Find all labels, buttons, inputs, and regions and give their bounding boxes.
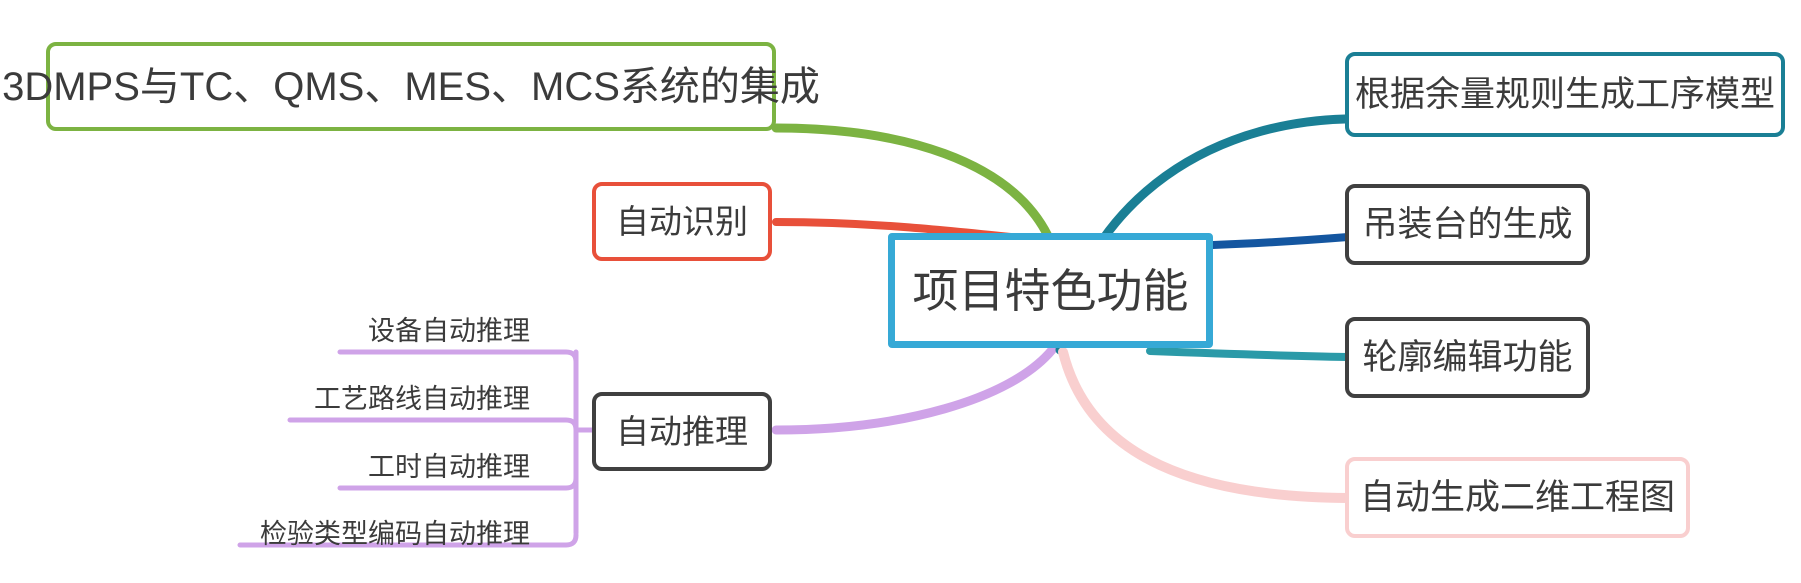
node-auto-2d-drawing[interactable]: 自动生成二维工程图 (1345, 457, 1690, 538)
node-integration-label: 3DMPS与TC、QMS、MES、MCS系统的集成 (2, 67, 820, 107)
node-auto-2d-drawing-label: 自动生成二维工程图 (1360, 480, 1675, 515)
connector-contour-edit (1150, 351, 1348, 357)
leaf-hours-inference[interactable]: 工时自动推理 (240, 454, 530, 481)
node-auto-recognition-label: 自动识别 (616, 205, 748, 238)
leaf-underline-equipment (340, 352, 576, 362)
node-contour-edit[interactable]: 轮廓编辑功能 (1345, 317, 1590, 398)
connector-auto-2d-drawing (1063, 352, 1348, 498)
connector-auto-inference (776, 350, 1052, 430)
node-process-model[interactable]: 根据余量规则生成工序模型 (1345, 52, 1785, 137)
node-contour-edit-label: 轮廓编辑功能 (1362, 340, 1572, 375)
mindmap-canvas: 3DMPS与TC、QMS、MES、MCS系统的集成 自动识别 自动推理 项目特色… (0, 0, 1801, 583)
connector-integration (776, 128, 1048, 236)
leaf-route-inference[interactable]: 工艺路线自动推理 (240, 386, 530, 413)
leaf-underline-route (290, 420, 576, 430)
node-auto-recognition[interactable]: 自动识别 (592, 182, 772, 261)
leaf-inspection-code-inference[interactable]: 检验类型编码自动推理 (240, 521, 530, 548)
node-auto-inference-label: 自动推理 (616, 415, 748, 448)
node-center-topic[interactable]: 项目特色功能 (888, 233, 1213, 348)
node-lifting-platform[interactable]: 吊装台的生成 (1345, 184, 1590, 265)
connector-lifting-platform (1213, 237, 1348, 245)
node-integration[interactable]: 3DMPS与TC、QMS、MES、MCS系统的集成 (46, 42, 776, 131)
node-lifting-platform-label: 吊装台的生成 (1362, 207, 1572, 242)
node-process-model-label: 根据余量规则生成工序模型 (1355, 77, 1775, 112)
node-auto-inference[interactable]: 自动推理 (592, 392, 772, 471)
leaf-equipment-inference[interactable]: 设备自动推理 (240, 318, 530, 345)
node-center-topic-label: 项目特色功能 (913, 268, 1189, 314)
